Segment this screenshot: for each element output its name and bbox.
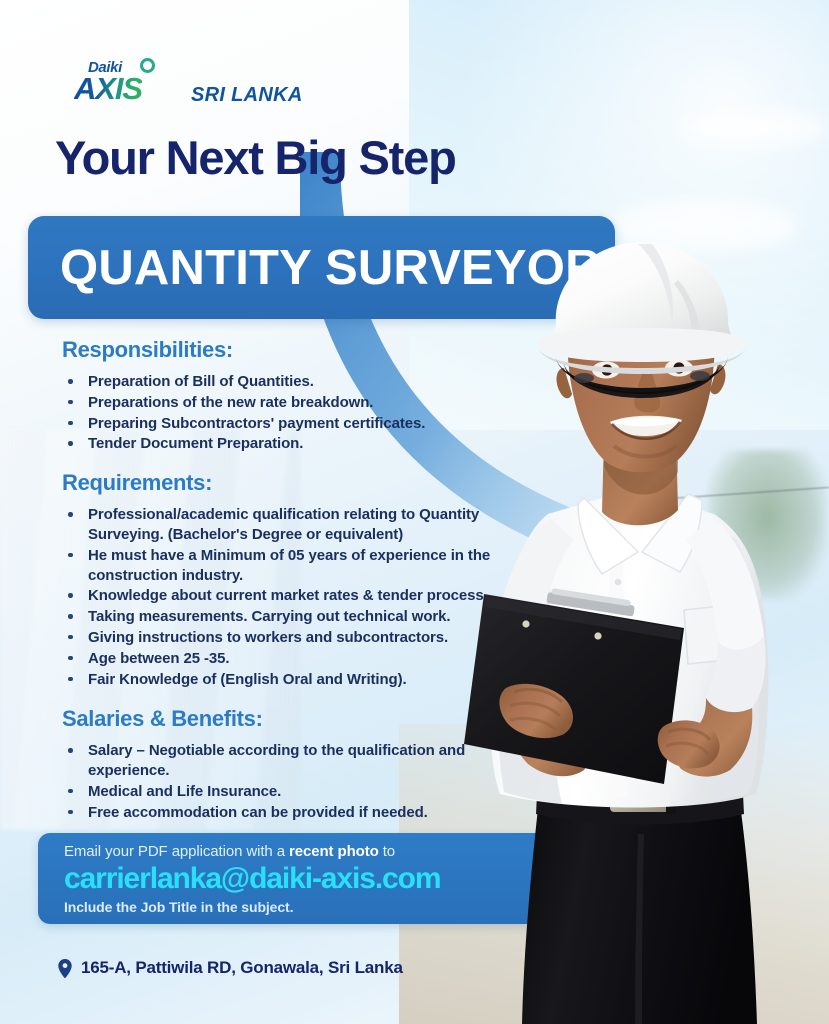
subject-note: Include the Job Title in the subject. — [64, 899, 562, 915]
salaries-benefits-list: Salary – Negotiable according to the qua… — [62, 741, 532, 822]
background-cloud — [679, 110, 829, 146]
contact-email[interactable]: carrierlanka@daiki-axis.com — [64, 862, 562, 896]
list-item: Medical and Life Insurance. — [62, 782, 532, 802]
location-pin-icon — [58, 959, 72, 978]
section-heading-salaries-benefits: Salaries & Benefits: — [62, 706, 532, 732]
background-cloud — [609, 200, 799, 252]
contact-banner: Email your PDF application with a recent… — [38, 833, 562, 924]
job-title-banner: QUANTITY SURVEYOR — [28, 216, 615, 319]
list-item: Professional/academic qualification rela… — [62, 505, 532, 545]
vacancy-details: Responsibilities: Preparation of Bill of… — [62, 337, 532, 824]
address-row: 165-A, Pattiwila RD, Gonawala, Sri Lanka — [58, 958, 403, 978]
section-heading-requirements: Requirements: — [62, 470, 532, 496]
list-item: Age between 25 -35. — [62, 649, 532, 669]
list-item: Giving instructions to workers and subco… — [62, 628, 532, 648]
instruction-suffix: to — [379, 843, 395, 860]
instruction-emphasis: recent photo — [289, 843, 379, 860]
instruction-prefix: Email your PDF application with a — [64, 843, 289, 860]
job-vacancy-poster: Daiki AXIS SRI LANKA Your Next Big Step … — [0, 0, 829, 1024]
list-item: Preparation of Bill of Quantities. — [62, 372, 532, 392]
section-heading-responsibilities: Responsibilities: — [62, 337, 532, 363]
responsibilities-list: Preparation of Bill of Quantities. Prepa… — [62, 372, 532, 454]
requirements-list: Professional/academic qualification rela… — [62, 505, 532, 689]
circle-ring-icon — [140, 58, 155, 73]
list-item: Tender Document Preparation. — [62, 434, 532, 454]
job-title-text: QUANTITY SURVEYOR — [60, 240, 601, 296]
list-item: Salary – Negotiable according to the qua… — [62, 741, 532, 781]
logo-mark: Daiki AXIS — [74, 60, 182, 110]
address-text: 165-A, Pattiwila RD, Gonawala, Sri Lanka — [81, 958, 403, 978]
company-logo: Daiki AXIS SRI LANKA — [74, 60, 303, 110]
background-tree — [707, 450, 827, 600]
application-instruction: Email your PDF application with a recent… — [64, 843, 562, 860]
list-item: He must have a Minimum of 05 years of ex… — [62, 546, 532, 586]
list-item: Free accommodation can be provided if ne… — [62, 803, 532, 823]
list-item: Preparations of the new rate breakdown. — [62, 393, 532, 413]
list-item: Knowledge about current market rates & t… — [62, 586, 532, 606]
logo-axis-text: AXIS — [74, 73, 142, 104]
list-item: Fair Knowledge of (English Oral and Writ… — [62, 670, 532, 690]
logo-country-text: SRI LANKA — [191, 84, 303, 110]
page-headline: Your Next Big Step — [55, 130, 456, 185]
list-item: Preparing Subcontractors' payment certif… — [62, 414, 532, 434]
list-item: Taking measurements. Carrying out techni… — [62, 607, 532, 627]
